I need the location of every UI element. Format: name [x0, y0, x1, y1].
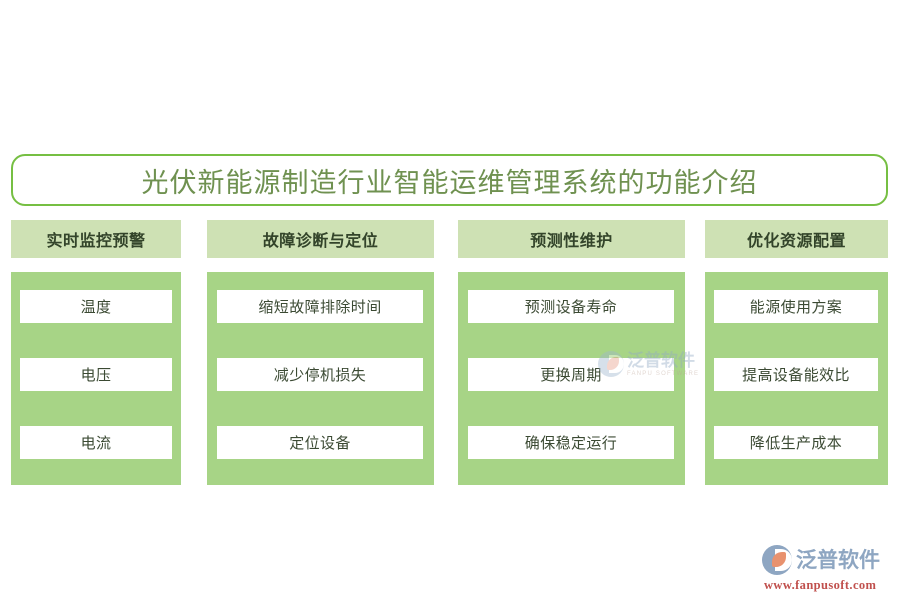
list-item-label: 减少停机损失 — [274, 364, 366, 385]
brand-logo-row: 泛普软件 — [762, 545, 880, 575]
list-item-label: 提高设备能效比 — [742, 364, 850, 385]
list-item[interactable]: 降低生产成本 — [714, 426, 878, 459]
list-item-label: 电压 — [81, 364, 112, 385]
list-item[interactable]: 能源使用方案 — [714, 290, 878, 323]
list-item-label: 预测设备寿命 — [525, 296, 617, 317]
list-item-label: 更换周期 — [540, 364, 602, 385]
list-item[interactable]: 定位设备 — [217, 426, 423, 459]
column-body-4: 能源使用方案 提高设备能效比 降低生产成本 — [705, 272, 888, 485]
list-item[interactable]: 提高设备能效比 — [714, 358, 878, 391]
list-item[interactable]: 减少停机损失 — [217, 358, 423, 391]
page-title: 光伏新能源制造行业智能运维管理系统的功能介绍 — [142, 161, 758, 200]
list-item-label: 缩短故障排除时间 — [258, 296, 381, 317]
page-title-box: 光伏新能源制造行业智能运维管理系统的功能介绍 — [11, 154, 888, 206]
column-body-3: 预测设备寿命 更换周期 确保稳定运行 — [458, 272, 685, 485]
column-body-1: 温度 电压 电流 — [11, 272, 181, 485]
brand-logo: 泛普软件 www.fanpusoft.com — [762, 545, 880, 593]
list-item[interactable]: 温度 — [20, 290, 172, 323]
list-item[interactable]: 电压 — [20, 358, 172, 391]
list-item[interactable]: 预测设备寿命 — [468, 290, 674, 323]
list-item[interactable]: 电流 — [20, 426, 172, 459]
list-item-label: 降低生产成本 — [750, 432, 842, 453]
column-header-2: 故障诊断与定位 — [207, 220, 434, 258]
list-item[interactable]: 缩短故障排除时间 — [217, 290, 423, 323]
slide-canvas: 光伏新能源制造行业智能运维管理系统的功能介绍 实时监控预警 温度 电压 电流 故… — [0, 0, 900, 600]
column-header-3: 预测性维护 — [458, 220, 685, 258]
brand-website-url: www.fanpusoft.com — [764, 578, 876, 593]
list-item[interactable]: 确保稳定运行 — [468, 426, 674, 459]
column-header-label: 实时监控预警 — [46, 227, 145, 251]
list-item-label: 能源使用方案 — [750, 296, 842, 317]
list-item-label: 温度 — [81, 296, 112, 317]
list-item-label: 确保稳定运行 — [525, 432, 617, 453]
column-header-label: 故障诊断与定位 — [263, 227, 379, 251]
column-header-label: 优化资源配置 — [747, 227, 846, 251]
fanpu-logo-icon — [762, 545, 792, 575]
brand-name: 泛普软件 — [796, 550, 880, 571]
column-header-4: 优化资源配置 — [705, 220, 888, 258]
column-header-1: 实时监控预警 — [11, 220, 181, 258]
list-item-label: 电流 — [81, 432, 112, 453]
column-body-2: 缩短故障排除时间 减少停机损失 定位设备 — [207, 272, 434, 485]
column-header-label: 预测性维护 — [530, 227, 613, 251]
list-item-label: 定位设备 — [289, 432, 351, 453]
list-item[interactable]: 更换周期 — [468, 358, 674, 391]
